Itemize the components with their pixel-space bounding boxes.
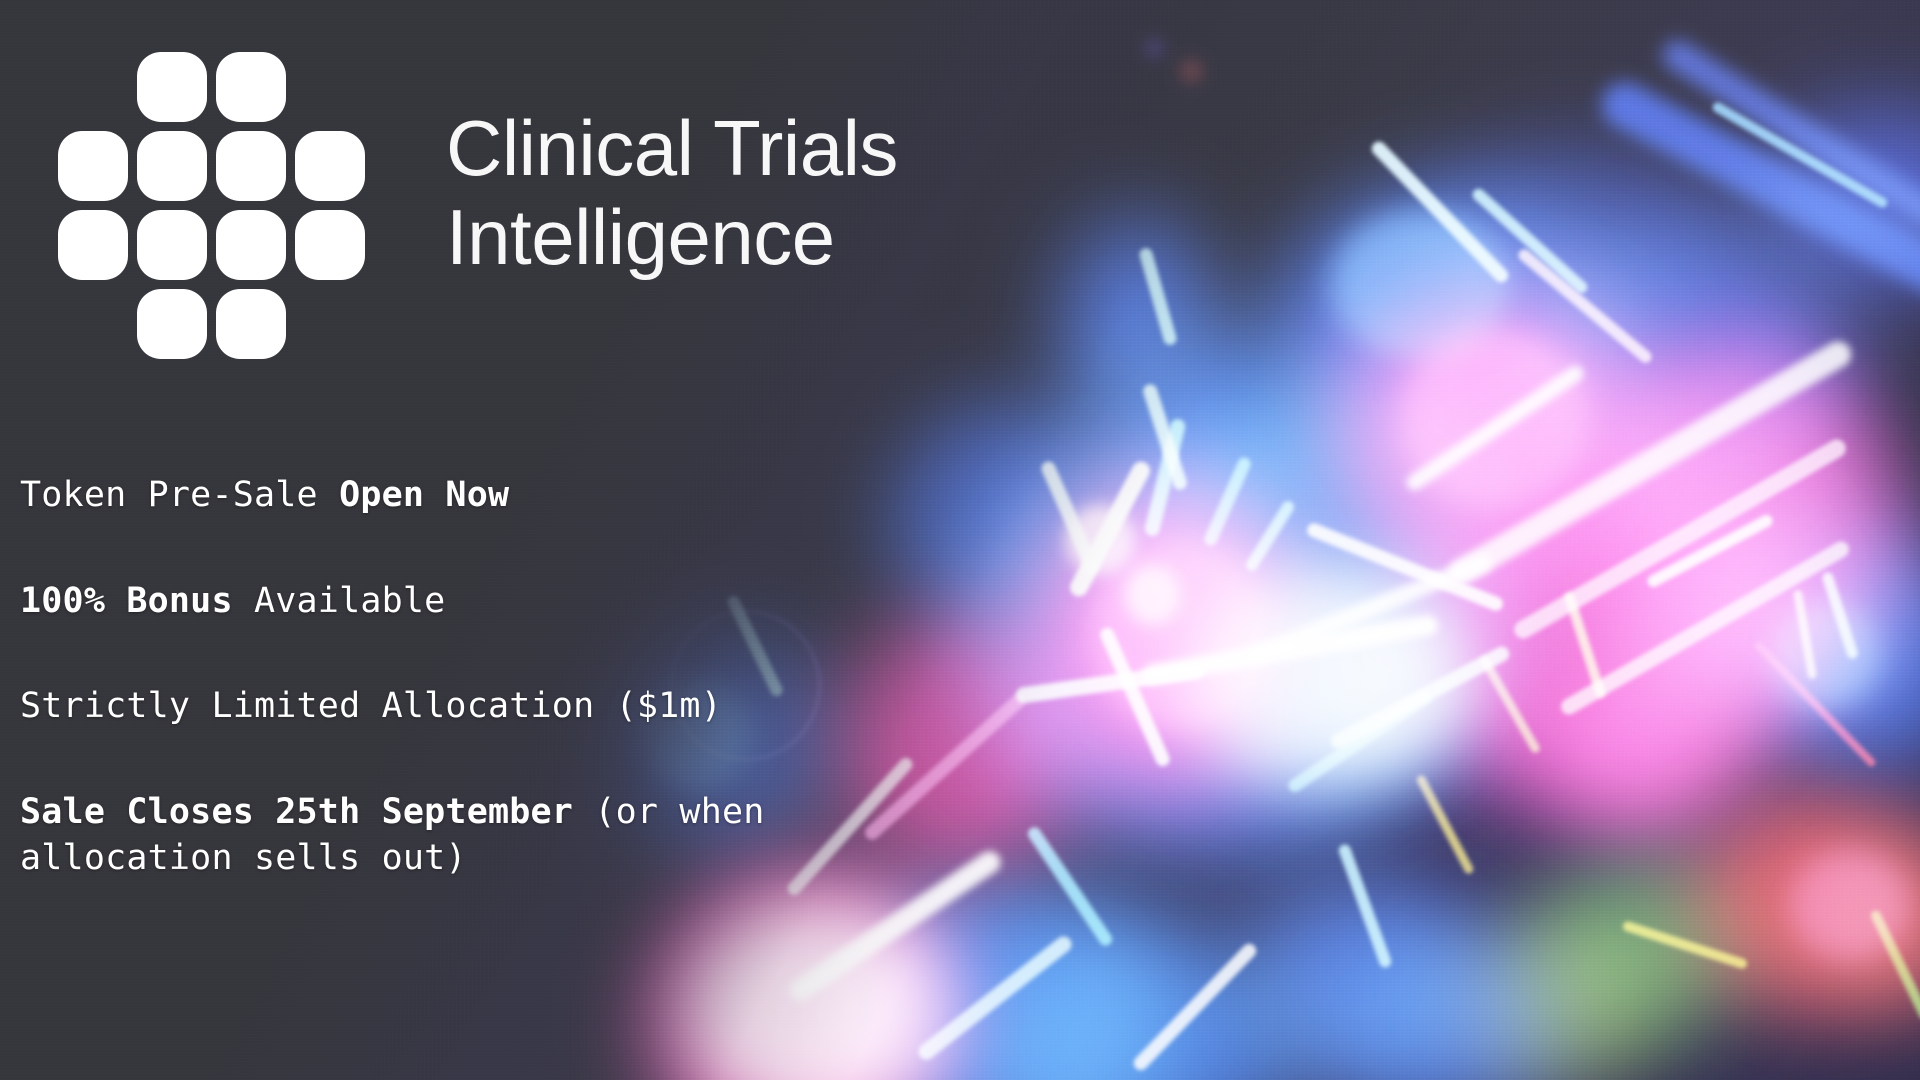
logo-dot-r2-c2 (137, 131, 207, 201)
logo-dot-r3-c1 (58, 210, 128, 280)
logo-dot-grid (58, 52, 348, 359)
logo-dot-empty (58, 52, 128, 122)
promo-text-segment: Available (233, 581, 446, 621)
logo-dot-r4-c2 (137, 289, 207, 359)
promo-line-closing-date: Sale Closes 25th September (or when allo… (20, 789, 920, 882)
logo-dot-r4-c3 (216, 289, 286, 359)
page-title: Clinical Trials Intelligence (446, 104, 898, 282)
logo-dot-r3-c3 (216, 210, 286, 280)
logo-dot-r1-c3 (216, 52, 286, 122)
promo-text-segment: Token Pre-Sale (20, 475, 339, 515)
promo-copy: Token Pre-Sale Open Now100% Bonus Availa… (20, 472, 920, 882)
logo-dot-r2-c3 (216, 131, 286, 201)
logo-dot-r3-c4 (295, 210, 365, 280)
promo-banner: Clinical Trials Intelligence Token Pre-S… (0, 0, 1920, 1080)
promo-line-pre-sale-status: Token Pre-Sale Open Now (20, 472, 920, 519)
logo-dot-r1-c2 (137, 52, 207, 122)
promo-line-allocation: Strictly Limited Allocation ($1m) (20, 683, 920, 730)
logo-dot-empty (295, 289, 365, 359)
logo-dot-r2-c4 (295, 131, 365, 201)
logo-dot-r2-c1 (58, 131, 128, 201)
logo-dot-r3-c2 (137, 210, 207, 280)
logo-dot-empty (58, 289, 128, 359)
brand-logo (58, 52, 348, 342)
promo-text-segment: Open Now (339, 475, 509, 515)
promo-text-segment: Sale Closes 25th September (20, 792, 573, 832)
logo-dot-empty (295, 52, 365, 122)
promo-line-bonus: 100% Bonus Available (20, 578, 920, 625)
promo-text-segment: Strictly Limited Allocation ($1m) (20, 686, 722, 726)
promo-text-segment: 100% Bonus (20, 581, 233, 621)
